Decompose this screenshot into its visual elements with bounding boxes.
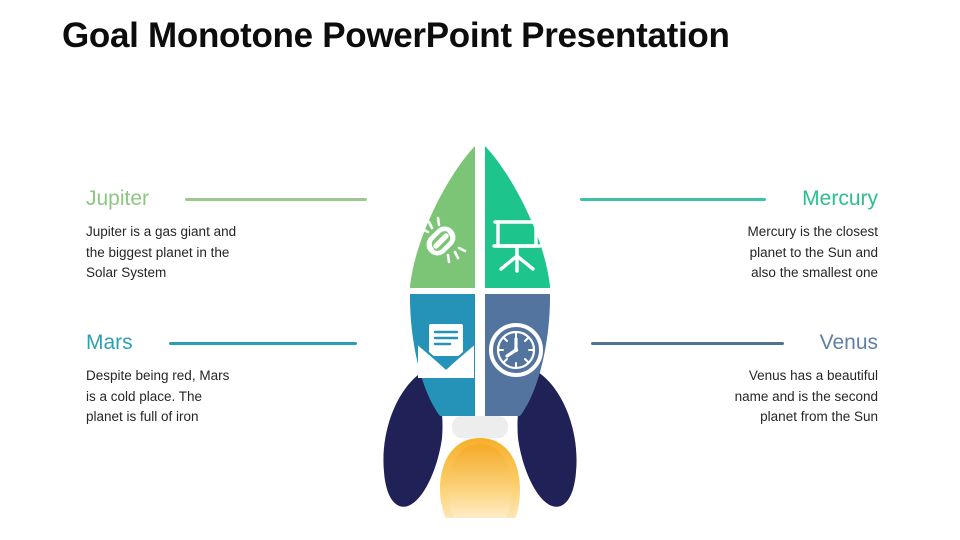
info-block-jupiter-header: Jupiter [86,186,376,212]
rocket-segment-top-right[interactable] [485,146,550,288]
info-block-mars-rule [169,342,357,345]
info-block-mercury-body: Mercury is the closest planet to the Sun… [588,222,878,284]
presentation-slide: Goal Monotone PowerPoint Presentation Ju… [0,0,960,540]
rocket-segment-top-left[interactable] [410,146,475,288]
info-block-mars-heading: Mars [86,330,133,356]
info-block-jupiter: Jupiter Jupiter is a gas giant and the b… [86,186,376,284]
clock-icon [491,325,541,375]
rocket-flame [440,438,520,518]
info-block-mercury: Mercury Mercury is the closest planet to… [588,186,878,284]
info-block-jupiter-body: Jupiter is a gas giant and the biggest p… [86,222,376,284]
rocket-nozzle [452,416,508,438]
info-block-venus-heading: Venus [820,330,878,356]
info-block-mars: Mars Despite being red, Mars is a cold p… [86,330,376,428]
info-block-jupiter-rule [185,198,367,201]
info-block-jupiter-heading: Jupiter [86,186,149,212]
info-block-mars-header: Mars [86,330,376,356]
rocket-infographic [370,138,590,518]
page-title: Goal Monotone PowerPoint Presentation [62,16,912,56]
info-block-mercury-rule [580,198,766,201]
info-block-venus-header: Venus [588,330,878,356]
info-block-venus: Venus Venus has a beautiful name and is … [588,330,878,428]
info-block-mercury-heading: Mercury [802,186,878,212]
info-block-venus-body: Venus has a beautiful name and is the se… [588,366,878,428]
info-block-mercury-header: Mercury [588,186,878,212]
info-block-venus-rule [591,342,784,345]
info-block-mars-body: Despite being red, Mars is a cold place.… [86,366,376,428]
